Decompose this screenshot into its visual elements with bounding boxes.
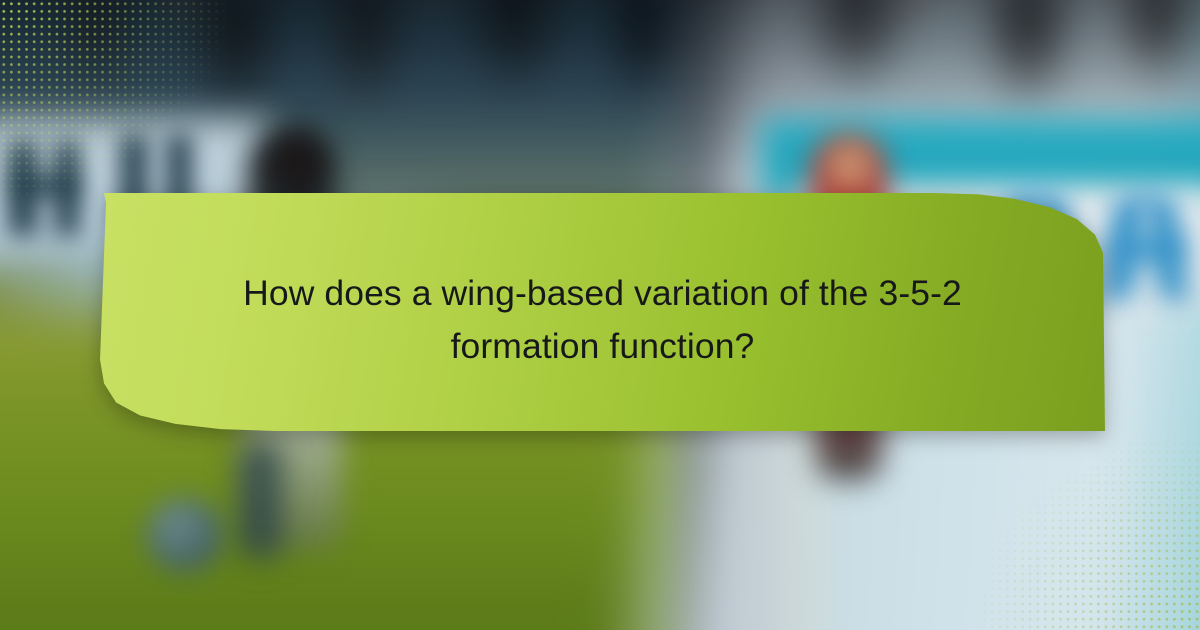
- player-head-left: [272, 134, 324, 190]
- share-card-canvas: How does a wing-based variation of the 3…: [0, 0, 1200, 630]
- soccer-ball: [146, 498, 224, 572]
- banner-letter: [1114, 238, 1182, 260]
- banner-glyph: [14, 176, 76, 196]
- player-sock-left: [238, 440, 282, 560]
- player-head-right: [826, 140, 874, 192]
- question-card: How does a wing-based variation of the 3…: [100, 193, 1105, 431]
- question-text: How does a wing-based variation of the 3…: [100, 267, 1105, 373]
